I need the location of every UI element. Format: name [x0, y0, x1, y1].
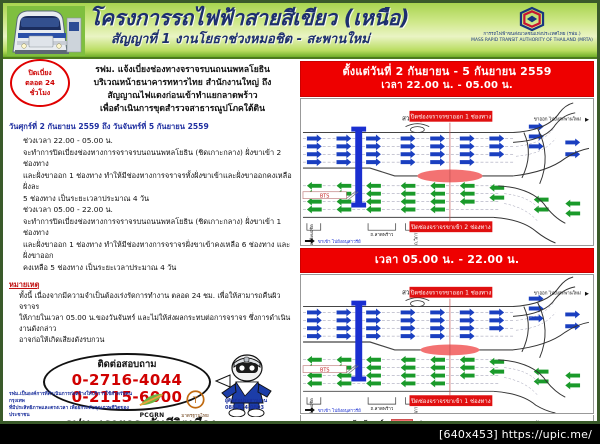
detail-line: และฝั่งขาออก 1 ช่องทาง ทำให้มีช่องทางการ… [23, 239, 294, 262]
direction-outbound-label: ขาออก ไปยังสะพานใหม่ [534, 290, 581, 297]
poster-body: ปิดเบี่ยง ตลอด 24 ชั่วโมง รฟม. แจ้งเบี่ย… [3, 59, 597, 424]
callout-bottom-label: ปิดช่องจราจรขาเข้า 1 ช่องทาง [410, 398, 490, 405]
status-badge: ปิดเบี่ยง ตลอด 24 ชั่วโมง [10, 59, 70, 107]
diagram-day-svg: BTS สวนจตุจักร ถ.ลาดพร้าว ถ.วิภาวดี สถาน… [301, 275, 593, 413]
legend-closed-swatch [391, 419, 413, 424]
left-footer: รฟม.เป็นองค์การที่ดำเนินการก่อสร้างให้บร… [9, 390, 299, 420]
callout-bottom: ปิดช่องจราจรขาเข้า 2 ช่องทาง [410, 221, 493, 232]
intro-line-3: สัญญาณไฟแดงก่อนเข้าทำแยกลาดพร้าว [71, 90, 294, 103]
callout-bottom-label: ปิดช่องจราจรขาเข้า 2 ช่องทาง [410, 224, 490, 231]
detail-line: จะทำการปิดเบี่ยงช่องทางการจราจรบนถนนพหลโ… [23, 216, 294, 239]
road-label-ladprao: ถ.ลาดพร้าว [371, 406, 394, 412]
banner-night-time: เวลา 22.00 น. - 05.00 น. [301, 79, 593, 92]
diagram-night-svg: BTS สวนจตุจักร ถ.ลาดพร้าว ถ.วิภาวดี สถาน… [301, 99, 593, 245]
direction-inbound-label: ขาเข้า ไปยังอนุสาวรีย์ [318, 238, 361, 245]
station-marker [355, 129, 362, 206]
callout-top: ปิดช่องจราจรขาออก 1 ช่องทาง [410, 287, 493, 298]
right-column: ตั้งแต่วันที่ 2 กันยายน - 5 กันยายน 2559… [300, 59, 597, 424]
detail-line: ช่วงเวลา 22.00 - 05.00 น. [23, 135, 294, 147]
note-line: ทั้งนี้ เนื่องจากมีความจำเป็นต้องเร่งรัด… [19, 290, 294, 312]
banner-day: เวลา 05.00 น. - 22.00 น. [300, 248, 594, 273]
date-range-line: วันศุกร์ที่ 2 กันยายน 2559 ถึง วันจันทร์… [9, 121, 294, 132]
legend-outbound-label: ขาออก [481, 419, 501, 425]
footer-contact-label: ผู้ติดต่อประสานงาน [225, 398, 267, 406]
mrta-branding: การรถไฟฟ้าขนส่งมวลชนแห่งประเทศไทย (รฟม.)… [471, 6, 593, 44]
note-body: ทั้งนี้ เนื่องจากมีความจำเป็นต้องเร่งรัด… [9, 290, 294, 345]
badge-line-2: ตลอด 24 [25, 78, 55, 88]
train-photo-icon [7, 6, 85, 56]
footer-text-block: รฟม.เป็นองค์การที่ดำเนินการก่อสร้างให้บร… [9, 391, 135, 419]
mrta-logo-icon [515, 6, 549, 32]
legend-title: สัญลักษณ์ [352, 418, 384, 425]
detail-line: จะทำการปิดเบี่ยงช่องทางการจราจรบนถนนพหลโ… [23, 147, 294, 170]
detail-line: คงเหลือ 5 ช่องทาง เป็นระยะเวลาประมาณ 4 ว… [23, 262, 294, 274]
footer-text-line-2: ที่มีประสิทธิภาพและตรงเวลา เพื่อยกระดับค… [9, 405, 135, 419]
tisi-logo-block: T มาตรฐานไทย [169, 390, 221, 420]
station-marker [355, 303, 362, 380]
callout-top-label: ปิดช่องจราจรขาออก 1 ช่องทาง [410, 114, 492, 121]
legend-inbound-label: ขาเข้า [524, 419, 542, 425]
road-label-ladprao: ถ.ลาดพร้าว [370, 232, 393, 238]
intro-line-1: รฟม. แจ้งเบี่ยงช่องทางจราจรบนถนนพหลโยธิน [71, 64, 294, 77]
svg-text:BTS: BTS [320, 368, 330, 374]
diagram-night: BTS สวนจตุจักร ถ.ลาดพร้าว ถ.วิภาวดี สถาน… [300, 98, 594, 246]
diagram-day: BTS สวนจตุจักร ถ.ลาดพร้าว ถ.วิภาวดี สถาน… [300, 274, 594, 414]
callout-top-label: ปิดช่องจราจรขาออก 1 ช่องทาง [410, 290, 492, 297]
footer-contact-phone: 088-874-0803 [225, 405, 267, 413]
left-column: ปิดเบี่ยง ตลอด 24 ชั่วโมง รฟม. แจ้งเบี่ย… [3, 59, 300, 424]
direction-outbound-label: ขาออก ไปยังสะพานใหม่ [534, 116, 581, 123]
tisi-label: มาตรฐานไทย [169, 413, 221, 420]
contact-phone-1[interactable]: 0-2716-4044 [72, 372, 183, 389]
note-heading: หมายเหตุ [9, 279, 294, 290]
url-bar: [640x453] https://upic.me/ [0, 424, 600, 444]
poster: โครงการรถไฟฟ้าสายสีเขียว (เหนือ) สัญญาที… [0, 0, 600, 424]
svg-text:BTS: BTS [320, 194, 330, 200]
detail-line: และฝั่งขาออก 1 ช่องทาง ทำให้มีช่องทางการ… [23, 170, 294, 193]
diagram-legend: สัญลักษณ์ ปิดช่องจราจร ➝ ขาออก ➝ ขาเข้า [300, 415, 594, 424]
legend-closed-label: ปิดช่องจราจร [420, 419, 458, 425]
header-title-block: โครงการรถไฟฟ้าสายสีเขียว (เหนือ) สัญญาที… [89, 5, 409, 49]
banner-night-dates: ตั้งแต่วันที่ 2 กันยายน - 5 กันยายน 2559 [301, 65, 593, 79]
agency-name-en: MASS RAPID TRANSIT AUTHORITY OF THAILAND… [471, 38, 593, 44]
svg-text:T: T [191, 396, 198, 406]
page-title: โครงการรถไฟฟ้าสายสีเขียว (เหนือ) [89, 5, 409, 31]
pcgrn-logo-block: PCGRN [135, 391, 169, 419]
contact-label: ติดต่อสอบถาม [97, 358, 156, 372]
detail-line: ช่วงเวลา 05.00 - 22.00 น. [23, 204, 294, 216]
pcgrn-leaf-icon [138, 391, 166, 408]
note-line: ให้ภายในเวลา 05.00 น.ของวันจันทร์ และไม่… [19, 312, 294, 334]
footer-text-line-1: รฟม.เป็นองค์การที่ดำเนินการก่อสร้างให้บร… [9, 391, 135, 405]
intro-line-2: บริเวณหน้าธนาคารทหารไทย สำนักงานใหญ่ ถึง [71, 77, 294, 90]
badge-line-3: ชั่วโมง [30, 88, 50, 98]
legend-inbound-arrow-icon: ➝ [508, 419, 517, 425]
banner-night: ตั้งแต่วันที่ 2 กันยายน - 5 กันยายน 2559… [300, 61, 594, 97]
tisi-circle-icon: T [186, 390, 205, 409]
poster-header: โครงการรถไฟฟ้าสายสีเขียว (เหนือ) สัญญาที… [3, 3, 597, 59]
legend-outbound-arrow-icon: ➝ [465, 419, 474, 425]
callout-bottom: ปิดช่องจราจรขาเข้า 1 ช่องทาง [410, 395, 493, 406]
url-text: [640x453] https://upic.me/ [439, 428, 592, 441]
page-subtitle: สัญญาที่ 1 งานโยธาช่วงหมอชิต - สะพานใหม่ [89, 31, 409, 49]
detail-paragraphs: ช่วงเวลา 22.00 - 05.00 น. จะทำการปิดเบี่… [9, 135, 294, 273]
footer-contact-block: ผู้ติดต่อประสานงาน 088-874-0803 [225, 398, 267, 413]
detail-line: 5 ช่องทาง เป็นระยะเวลาประมาณ 4 วัน [23, 193, 294, 205]
pcgrn-label: PCGRN [135, 412, 169, 419]
badge-line-1: ปิดเบี่ยง [28, 68, 51, 78]
intro-line-4: เพื่อดำเนินการขุดสำรวจสาธารณูปโภคใต้ดิน [71, 103, 294, 116]
banner-day-time: เวลา 05.00 น. - 22.00 น. [301, 253, 593, 267]
callout-top: ปิดช่องจราจรขาออก 1 ช่องทาง [410, 111, 493, 122]
note-line: อาจก่อให้เกิดเสียงดังรบกวน [19, 334, 294, 345]
